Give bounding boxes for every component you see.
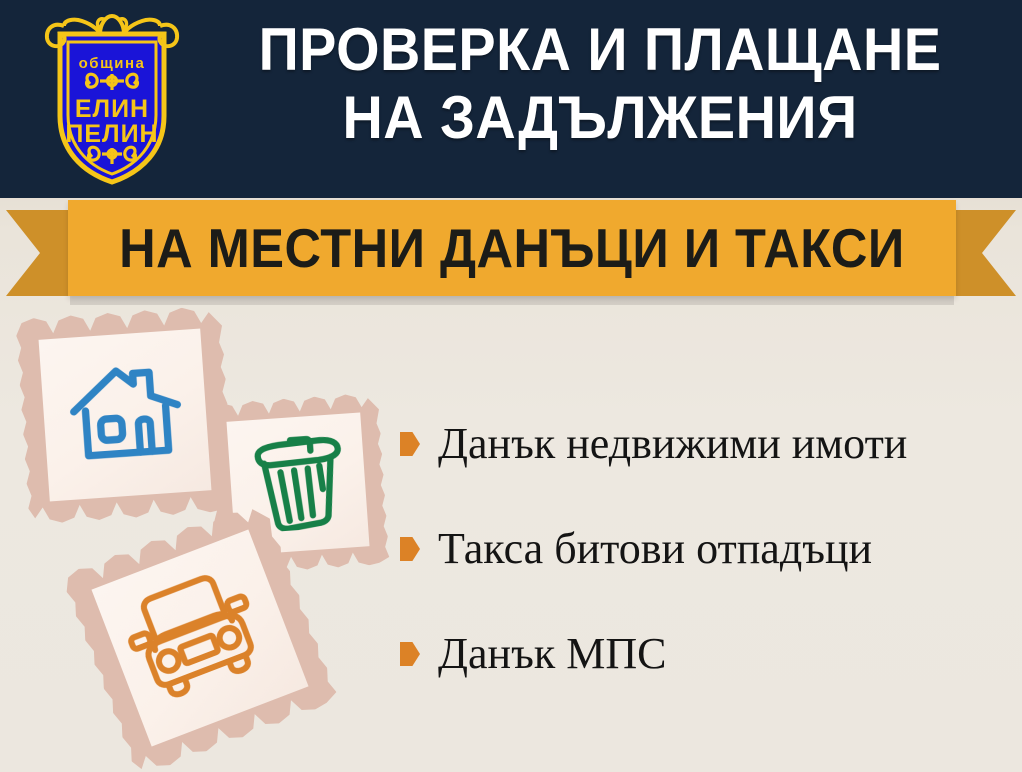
header-bar: община ЕЛИН ПЕЛИН <box>0 0 1022 198</box>
arrow-bullet-icon <box>400 642 420 666</box>
svg-text:община: община <box>79 55 146 72</box>
stamp-card-property <box>15 305 235 525</box>
subtitle-ribbon: НА МЕСТНИ ДАНЪЦИ И ТАКСИ <box>0 196 1022 306</box>
svg-text:ЕЛИН: ЕЛИН <box>75 95 149 123</box>
svg-text:ПЕЛИН: ПЕЛИН <box>65 120 158 148</box>
page-title: ПРОВЕРКА И ПЛАЩАНЕ НА ЗАДЪЛЖЕНИЯ <box>190 16 1010 152</box>
list-item: Данък МПС <box>400 628 1000 680</box>
tax-type-list: Данък недвижими имоти Такса битови отпад… <box>400 418 1000 680</box>
title-line-1: ПРОВЕРКА И ПЛАЩАНЕ <box>219 16 982 84</box>
ribbon-band: НА МЕСТНИ ДАНЪЦИ И ТАКСИ <box>68 200 956 296</box>
ribbon-shadow <box>70 296 954 305</box>
list-item: Данък недвижими имоти <box>400 418 1000 470</box>
title-line-2: НА ЗАДЪЛЖЕНИЯ <box>219 84 982 152</box>
ribbon-label: НА МЕСТНИ ДАНЪЦИ И ТАКСИ <box>119 219 905 277</box>
list-item-label: Данък МПС <box>438 629 666 679</box>
house-icon <box>63 350 189 476</box>
list-item-label: Такса битови отпадъци <box>438 524 872 574</box>
municipality-logo: община ЕЛИН ПЕЛИН <box>38 8 186 190</box>
arrow-bullet-icon <box>400 432 420 456</box>
arrow-bullet-icon <box>400 537 420 561</box>
list-item-label: Данък недвижими имоти <box>438 419 907 469</box>
poster-root: община ЕЛИН ПЕЛИН <box>0 0 1022 772</box>
coat-of-arms-icon: община ЕЛИН ПЕЛИН <box>38 8 186 190</box>
list-item: Такса битови отпадъци <box>400 523 1000 575</box>
